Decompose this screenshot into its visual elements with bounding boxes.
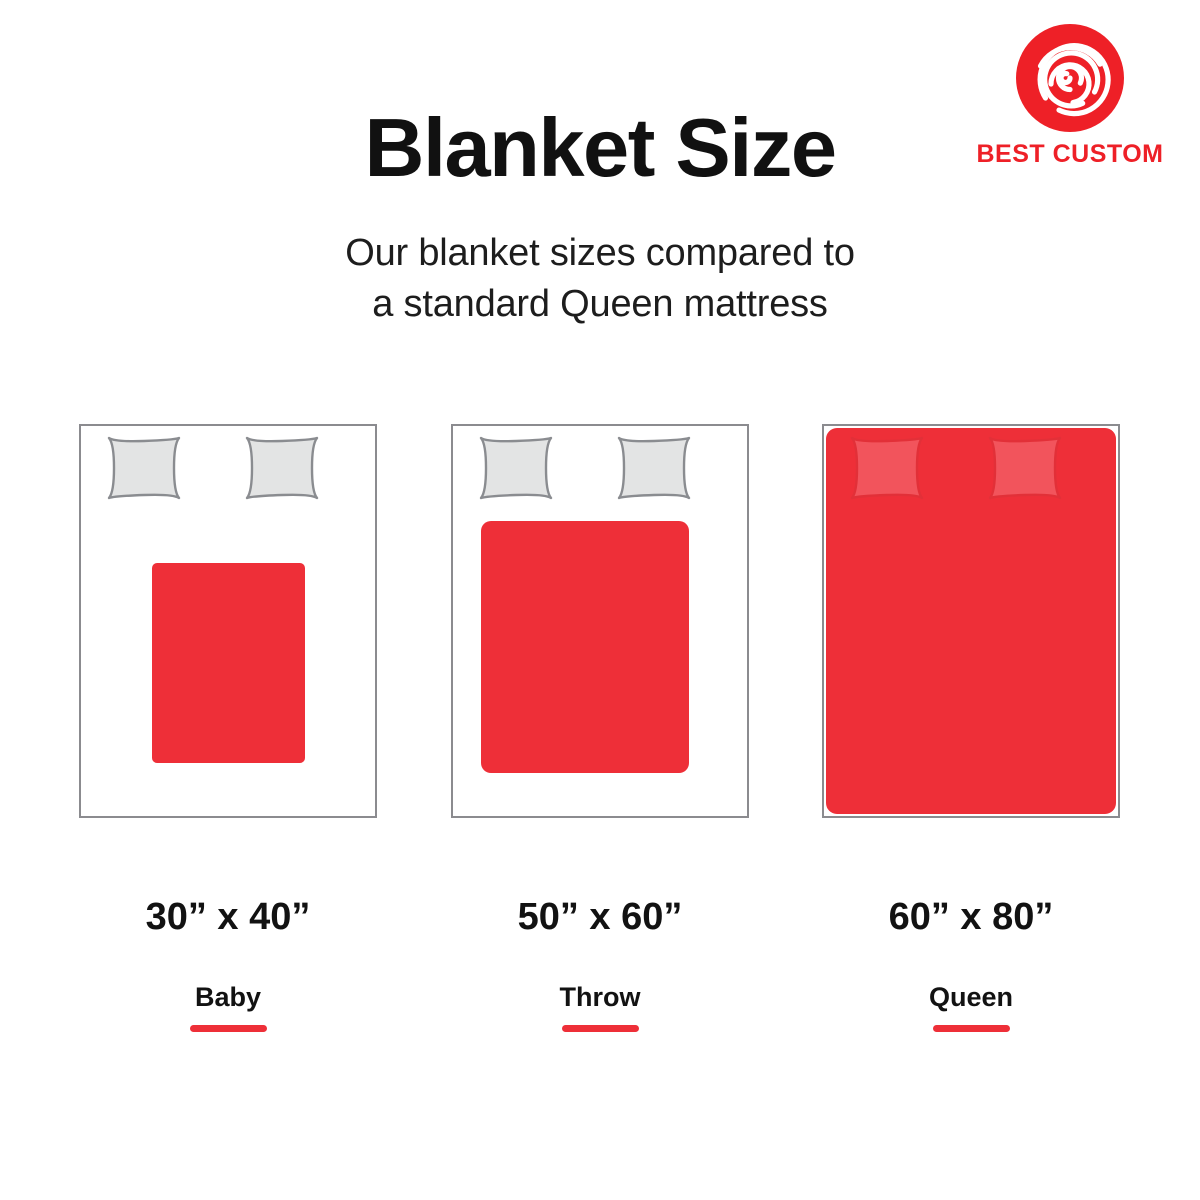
pillow-left (852, 438, 922, 498)
caption-baby: 30” x 40” Baby (79, 898, 377, 1032)
accent-underline (933, 1025, 1010, 1032)
accent-underline (190, 1025, 267, 1032)
page-title: Blanket Size (0, 104, 1200, 191)
bed-contents (822, 424, 1120, 818)
bed-contents (79, 424, 377, 818)
bed-diagram-row (0, 424, 1200, 818)
subtitle-line-2: a standard Queen mattress (0, 279, 1200, 330)
dimensions-label: 50” x 60” (451, 898, 749, 936)
pillow-left (481, 438, 551, 498)
size-name-label: Baby (79, 984, 377, 1011)
size-name-label: Queen (822, 984, 1120, 1011)
page-subtitle: Our blanket sizes compared to a standard… (0, 228, 1200, 331)
subtitle-line-1: Our blanket sizes compared to (0, 228, 1200, 279)
size-name-label: Throw (451, 984, 749, 1011)
pillow-right (247, 438, 317, 498)
caption-queen: 60” x 80” Queen (822, 898, 1120, 1032)
infographic-canvas: BEST CUSTOM Blanket Size Our blanket siz… (0, 0, 1200, 1200)
pillow-right (619, 438, 689, 498)
dimensions-label: 60” x 80” (822, 898, 1120, 936)
bed-diagram-queen (822, 424, 1120, 818)
bed-diagram-throw (451, 424, 749, 818)
blanket-throw (481, 521, 689, 773)
caption-row: 30” x 40” Baby 50” x 60” Throw 60” x 80”… (0, 898, 1200, 1058)
bed-contents (451, 424, 749, 818)
bed-diagram-baby (79, 424, 377, 818)
pillow-right (990, 438, 1060, 498)
dimensions-label: 30” x 40” (79, 898, 377, 936)
blanket-baby (152, 563, 305, 763)
pillow-left (109, 438, 179, 498)
caption-throw: 50” x 60” Throw (451, 898, 749, 1032)
accent-underline (562, 1025, 639, 1032)
